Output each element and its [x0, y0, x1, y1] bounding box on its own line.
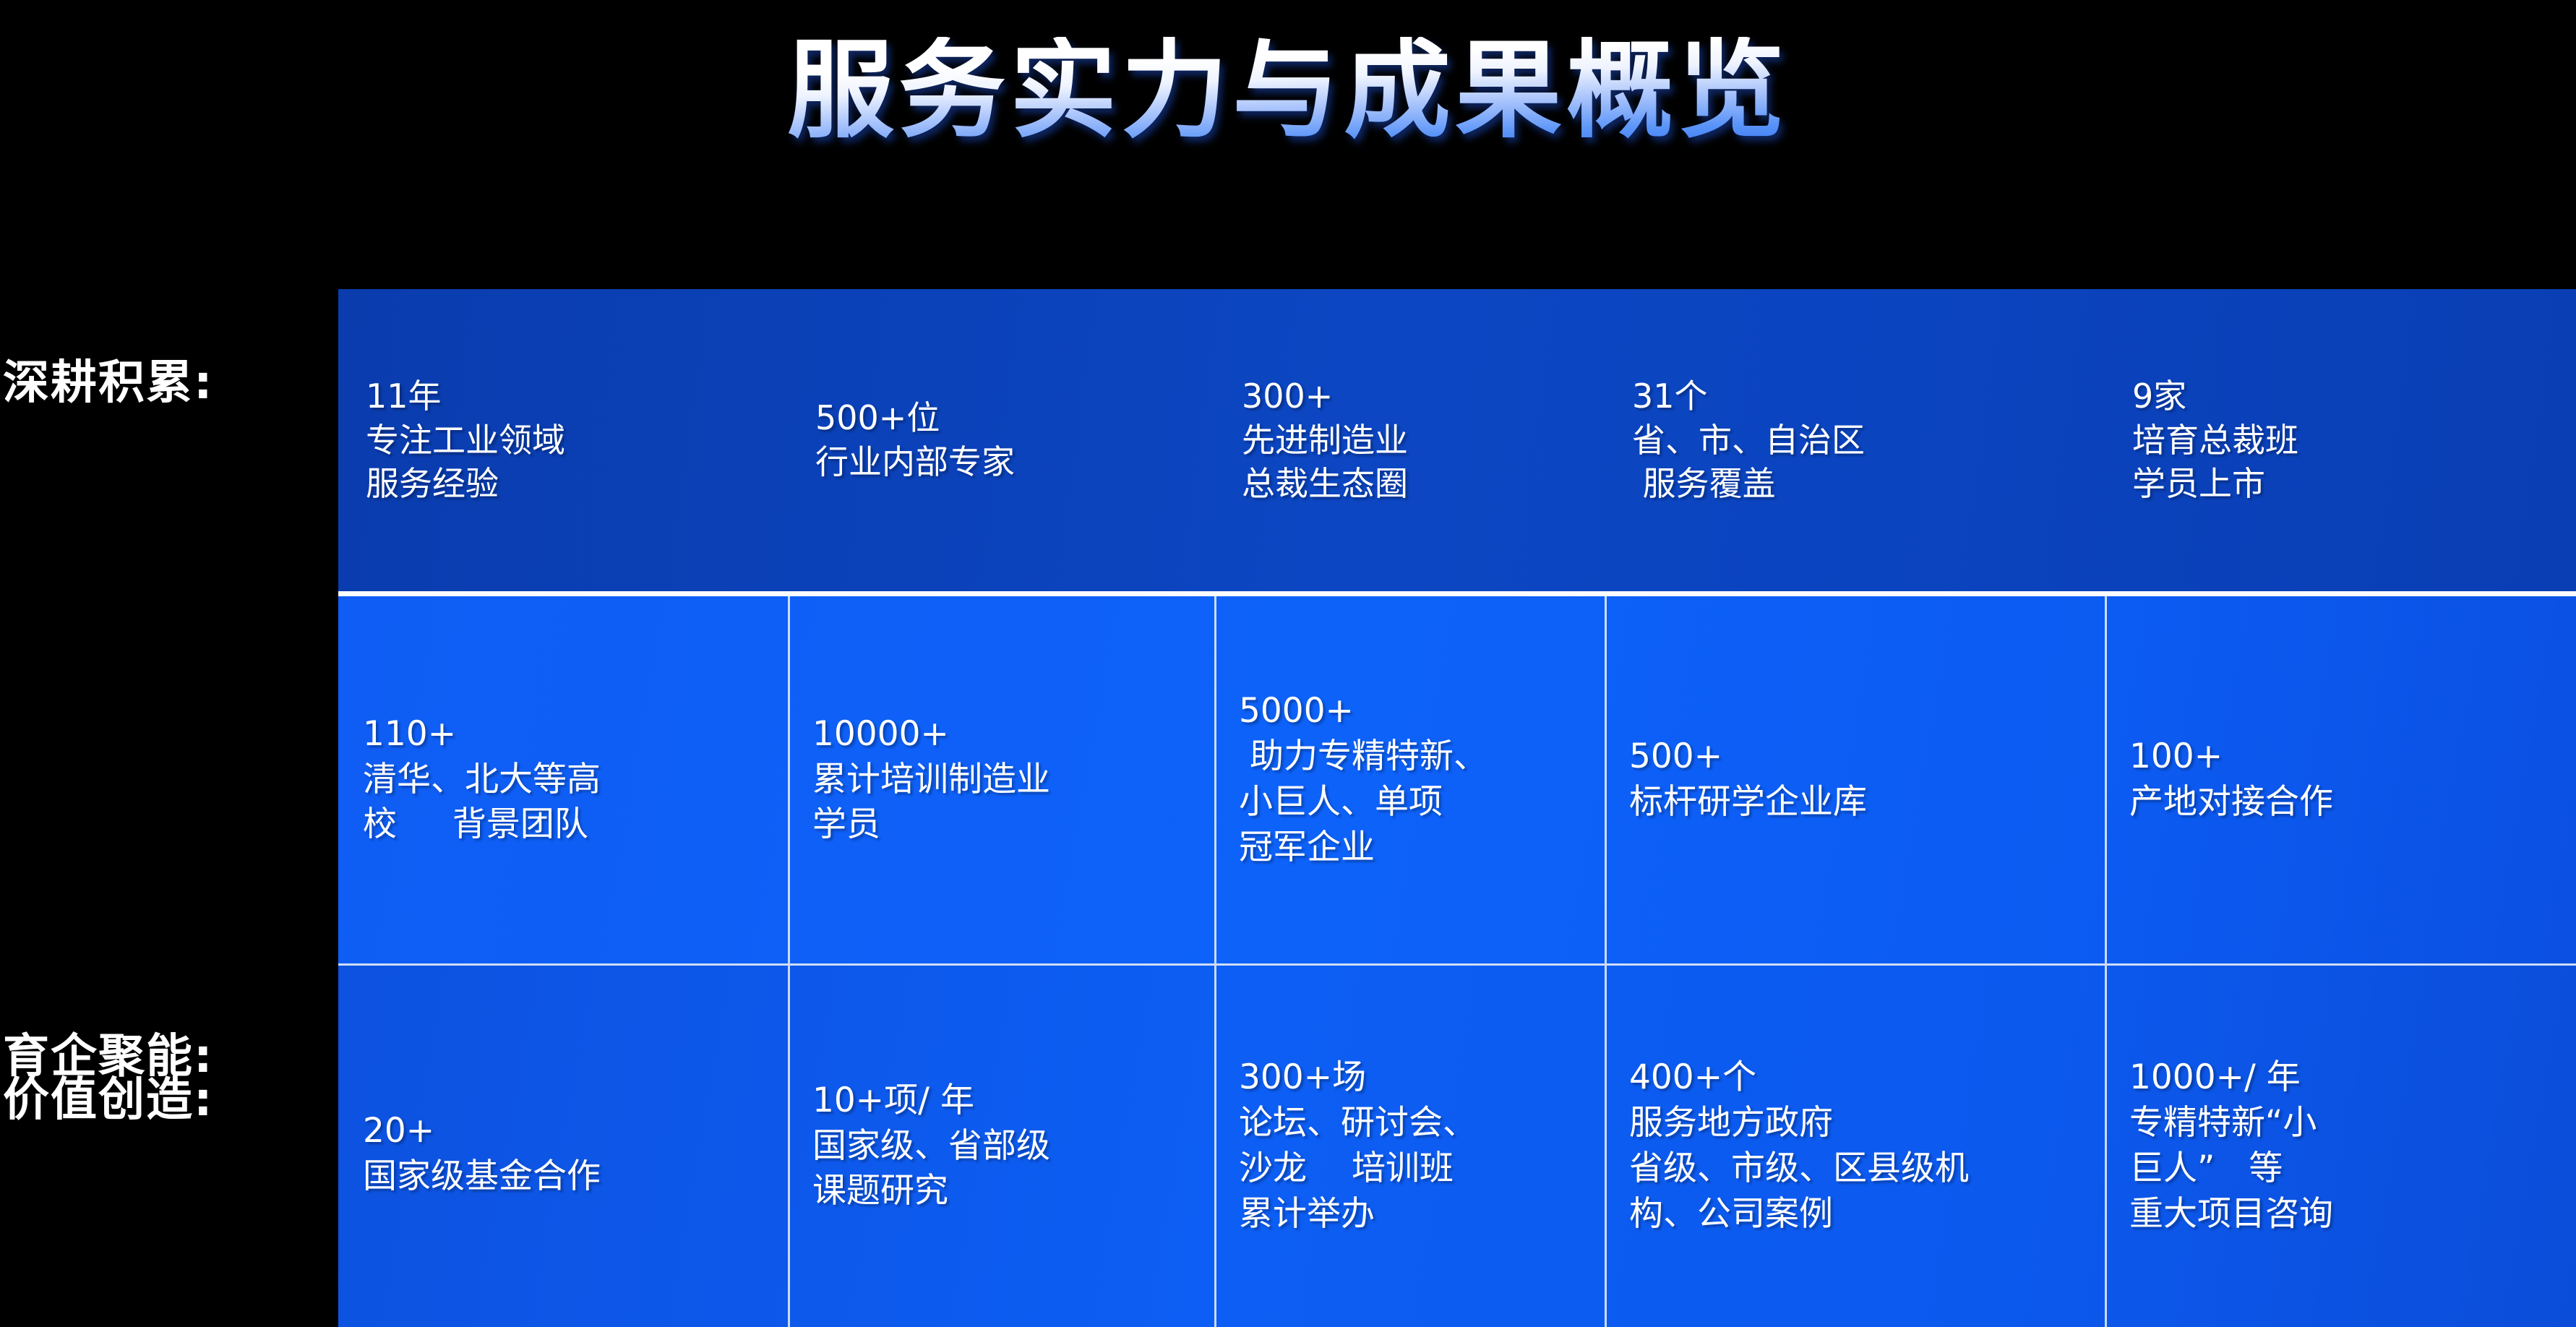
stat-cell: 20+ 国家级基金合作 [338, 966, 788, 1327]
stat-cell: 100+ 产地对接合作 [2105, 596, 2576, 963]
stat-desc-line: 产地对接合作 [2129, 780, 2551, 825]
stat-value: 300+场 [1239, 1055, 1580, 1101]
stat-desc-line: 服务地方政府 [1629, 1101, 2080, 1146]
stat-cell: 11年 专注工业领域 服务经验 [338, 289, 788, 591]
stat-cell: 10000+ 累计培训制造业 学员 [788, 596, 1214, 963]
row-label-deep-accumulation: 深耕积累: [3, 345, 321, 412]
stat-desc-line: 构、公司案例 [1629, 1192, 2080, 1237]
stat-value: 110+ [363, 712, 763, 757]
stat-desc-line: 行业内部专家 [815, 440, 1190, 484]
stat-desc-line: 国家级基金合作 [363, 1154, 763, 1200]
stat-desc-line: 课题研究 [812, 1169, 1190, 1214]
table-row: 11年 专注工业领域 服务经验 500+位 行业内部专家 300+ 先进制造业 … [338, 289, 2576, 596]
stat-value: 400+个 [1629, 1055, 2080, 1101]
stat-desc-line: 国家级、省部级 [812, 1124, 1190, 1169]
stat-desc-line: 先进制造业 [1242, 418, 1580, 463]
stat-cell: 9家 培育总裁班 学员上市 [2105, 289, 2576, 591]
stat-desc-line: 省级、市级、区县级机 [1629, 1146, 2080, 1192]
page-title: 服务实力与成果概览 [787, 37, 1789, 144]
stats-table: 11年 专注工业领域 服务经验 500+位 行业内部专家 300+ 先进制造业 … [338, 289, 2576, 1327]
stat-desc-line: 服务经验 [366, 462, 763, 506]
stat-desc-line: 校 背景团队 [363, 802, 763, 848]
row-label-value-creation: 价值创造: [3, 1062, 321, 1129]
page-title-bar: 服务实力与成果概览 [0, 0, 2576, 181]
stat-value: 10+项/ 年 [812, 1078, 1190, 1124]
stat-desc-line: 累计举办 [1239, 1192, 1580, 1237]
row-label-column: 深耕积累: 育企聚能: 价值创造: [0, 289, 338, 1327]
stat-desc-line: 小巨人、单项 [1239, 780, 1580, 825]
stat-cell: 300+场 论坛、研讨会、 沙龙 培训班 累计举办 [1214, 966, 1605, 1327]
stat-desc-line: 专注工业领域 [366, 418, 763, 463]
stat-desc-line: 专精特新“小 [2129, 1101, 2551, 1146]
stat-desc-line: 省、市、自治区 [1632, 418, 2080, 463]
stat-desc-line: 巨人” 等 [2129, 1146, 2551, 1192]
stat-desc-line: 培育总裁班 [2132, 418, 2551, 463]
stat-cell: 500+位 行业内部专家 [788, 289, 1214, 591]
stat-cell: 31个 省、市、自治区 服务覆盖 [1605, 289, 2105, 591]
stat-desc-line: 累计培训制造业 [812, 757, 1190, 803]
stat-value: 1000+/ 年 [2129, 1055, 2551, 1101]
stat-value: 500+ [1629, 734, 2080, 780]
stat-desc-line: 标杆研学企业库 [1629, 780, 2080, 825]
stat-desc-line: 服务覆盖 [1632, 462, 2080, 506]
stat-cell: 1000+/ 年 专精特新“小 巨人” 等 重大项目咨询 [2105, 966, 2576, 1327]
stat-desc-line: 助力专精特新、 [1239, 734, 1580, 780]
stat-cell: 500+ 标杆研学企业库 [1605, 596, 2105, 963]
stat-desc-line: 总裁生态圈 [1242, 462, 1580, 506]
stat-value: 11年 [366, 374, 763, 418]
stat-desc-line: 重大项目咨询 [2129, 1192, 2551, 1237]
stat-value: 300+ [1242, 374, 1580, 418]
table-row: 110+ 清华、北大等高 校 背景团队 10000+ 累计培训制造业 学员 50… [338, 596, 2576, 966]
stat-desc-line: 学员 [812, 802, 1190, 848]
stat-cell: 300+ 先进制造业 总裁生态圈 [1214, 289, 1605, 591]
stat-desc-line: 清华、北大等高 [363, 757, 763, 803]
stat-value: 31个 [1632, 374, 2080, 418]
stat-value: 5000+ [1239, 689, 1580, 734]
stat-cell: 400+个 服务地方政府 省级、市级、区县级机 构、公司案例 [1605, 966, 2105, 1327]
stat-desc-line: 学员上市 [2132, 462, 2551, 506]
stat-value: 20+ [363, 1109, 763, 1154]
table-row: 20+ 国家级基金合作 10+项/ 年 国家级、省部级 课题研究 300+场 论… [338, 966, 2576, 1327]
stat-value: 10000+ [812, 712, 1190, 757]
stat-cell: 110+ 清华、北大等高 校 背景团队 [338, 596, 788, 963]
stat-desc-line: 论坛、研讨会、 [1239, 1101, 1580, 1146]
stat-value: 500+位 [815, 396, 1190, 440]
stat-value: 100+ [2129, 734, 2551, 780]
stat-cell: 5000+ 助力专精特新、 小巨人、单项 冠军企业 [1214, 596, 1605, 963]
stat-desc-line: 沙龙 培训班 [1239, 1146, 1580, 1192]
stat-value: 9家 [2132, 374, 2551, 418]
stat-cell: 10+项/ 年 国家级、省部级 课题研究 [788, 966, 1214, 1327]
stat-desc-line: 冠军企业 [1239, 825, 1580, 871]
